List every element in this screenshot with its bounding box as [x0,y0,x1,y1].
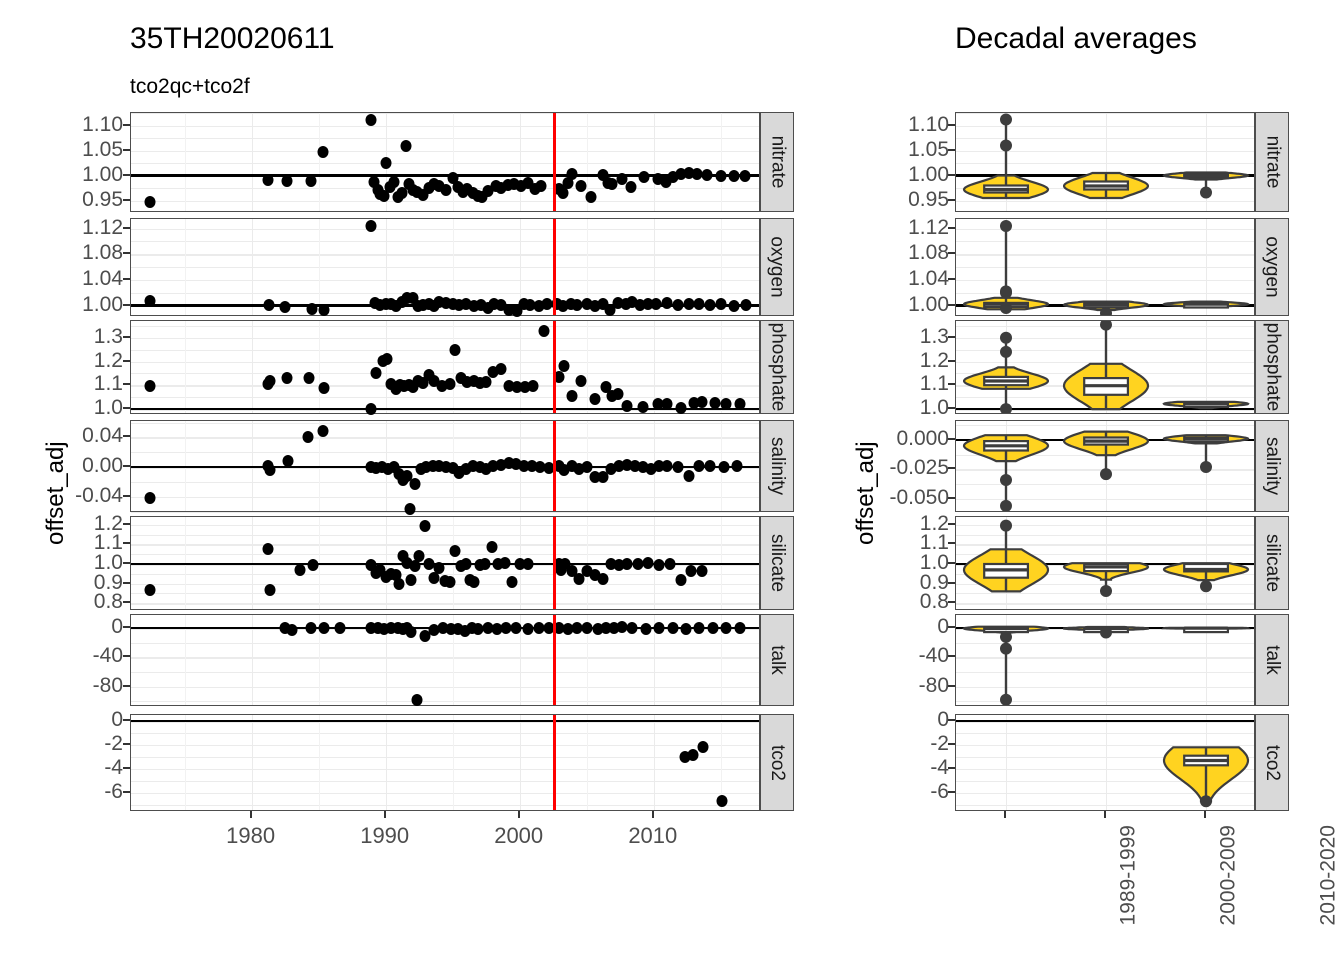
left-plot-title: 35TH20020611 [130,22,335,56]
data-point [654,559,665,571]
data-point [675,574,686,586]
grid-line [131,362,759,364]
data-point [410,478,421,490]
data-point [721,398,732,410]
data-point [281,372,292,384]
grid-line-vertical [319,715,320,810]
facet-strip-label: phosphate [766,323,788,412]
grid-line [131,293,759,294]
y-axis-tick-label: -6 [883,780,949,804]
y-axis-tick-mark [948,542,955,544]
grid-line-vertical [319,219,320,315]
facet-strip-label: oxygen [766,236,788,297]
data-point [705,460,716,472]
grid-line-vertical [185,715,186,810]
grid-line-vertical [185,219,186,315]
data-point [528,380,539,392]
x-axis-tick-mark [1204,811,1206,818]
grid-line-vertical [654,113,655,211]
facet-strip-phosphate: phosphate [760,320,794,414]
outlier-point [1000,500,1012,512]
y-axis-tick-mark [948,523,955,525]
data-point [406,626,417,638]
data-point [697,396,708,408]
facet-panel-salinity [130,420,760,512]
data-point [281,175,292,187]
data-point [265,584,276,596]
baseline-reference-line [131,720,759,723]
outlier-point [1000,643,1012,655]
data-point [406,574,417,586]
data-point [522,558,533,570]
data-point [280,301,291,313]
grid-line-vertical [319,321,320,413]
y-axis-tick-label: 0 [68,708,123,732]
y-axis-tick-mark [123,601,130,603]
data-point [317,425,328,437]
data-point [144,584,155,596]
outlier-point [1000,140,1012,152]
y-axis-tick-label: 0.00 [68,454,123,478]
grid-line [131,163,759,164]
data-point [694,460,705,472]
data-point [305,622,316,634]
outlier-point [1100,627,1112,639]
grid-line-vertical [453,715,454,810]
data-point [305,175,316,187]
data-point [450,545,461,557]
data-point [262,174,273,186]
y-axis-tick-mark [948,497,955,499]
data-point [265,375,276,387]
outlier-point [1200,795,1212,807]
cruise-year-marker [553,615,556,705]
data-point [686,565,697,577]
y-axis-tick-mark [123,465,130,467]
grid-line [131,254,759,256]
data-point [651,298,662,310]
y-axis-tick-mark [123,435,130,437]
y-axis-tick-label: -2 [883,732,949,756]
data-point [718,461,729,473]
y-axis-tick-label: 1.3 [883,325,949,349]
y-axis-tick-label: 1.00 [68,163,123,187]
grid-line-vertical [252,113,253,211]
data-point [388,176,399,188]
facet-panel-phosphate [130,320,760,414]
y-axis-tick-mark [948,719,955,721]
facet-strip-label: talk [766,645,788,675]
facet-panel-oxygen [130,218,760,316]
decadal-facet-panel-silicate [955,516,1255,610]
data-point [581,622,592,634]
data-point [672,461,683,473]
grid-line-vertical [587,321,588,413]
data-point [622,558,633,570]
cruise-year-marker [553,715,556,810]
data-point [654,622,665,634]
x-axis-tick-label: 1990 [360,823,409,849]
y-axis-tick-mark [948,467,955,469]
y-axis-tick-label: 1.04 [68,267,123,291]
grid-line [131,267,759,268]
y-axis-tick-mark [123,767,130,769]
data-point [597,573,608,585]
data-point [445,576,456,588]
data-point [304,372,315,384]
data-point [441,184,452,196]
y-axis-tick-mark [123,174,130,176]
grid-line-vertical [185,113,186,211]
data-point [662,460,673,472]
decadal-facet-strip-oxygen: oxygen [1255,218,1289,316]
y-axis-tick-mark [948,124,955,126]
data-point [423,558,434,570]
x-axis-tick-label: 2000 [494,823,543,849]
data-point [672,299,683,311]
grid-line [131,373,759,374]
decadal-facet-panel-tco2 [955,714,1255,811]
data-point [286,624,297,636]
data-point [739,170,750,182]
grid-line-vertical [185,321,186,413]
grid-line [131,657,759,659]
facet-strip-silicate: silicate [760,516,794,610]
right-y-axis-label: offset_adj [852,441,880,545]
decade-tick-label: 1989-1999 [1116,825,1140,925]
facet-strip-label: nitrate [766,136,788,189]
data-point [461,558,472,570]
y-axis-tick-mark [123,582,130,584]
cruise-year-marker [553,219,556,315]
y-axis-tick-mark [123,278,130,280]
data-point [302,431,313,443]
data-point [265,464,276,476]
data-point [319,382,330,394]
data-point [394,578,405,590]
outlier-point [1000,332,1012,344]
y-axis-tick-label: -40 [883,644,949,668]
data-point [335,622,346,634]
x-axis-tick-mark [518,811,520,818]
grid-line [131,535,759,536]
y-axis-tick-mark [948,252,955,254]
y-axis-tick-label: -80 [883,674,949,698]
y-axis-tick-mark [948,407,955,409]
y-axis-tick-label: 1.04 [883,267,949,291]
y-axis-tick-mark [948,767,955,769]
y-axis-tick-mark [948,383,955,385]
grid-line [131,201,759,203]
data-point [639,171,650,183]
facet-strip-oxygen: oxygen [760,218,794,316]
outlier-point [1000,220,1012,232]
facet-strip-salinity: salinity [760,420,794,512]
grid-line [131,512,759,513]
data-point [683,470,694,482]
y-axis-tick-mark [948,438,955,440]
data-point [622,400,633,412]
outlier-point [1100,585,1112,597]
y-axis-tick-mark [948,582,955,584]
grid-line-vertical [654,715,655,810]
data-point [434,562,445,574]
outlier-point [1000,474,1012,486]
data-point [616,621,627,633]
data-point [559,360,570,372]
facet-panel-silicate [130,516,760,610]
y-axis-tick-label: 1.08 [68,241,123,265]
y-axis-tick-mark [948,626,955,628]
facet-panel-tco2 [130,714,760,811]
x-axis-tick-label: 1980 [226,823,275,849]
facet-strip-label: talk [1261,645,1283,675]
facet-strip-label: nitrate [1261,136,1283,189]
data-point [400,140,411,152]
data-point [510,622,521,634]
y-axis-tick-mark [123,542,130,544]
y-axis-tick-label: -4 [883,756,949,780]
outlier-point [1200,461,1212,473]
x-axis-tick-label: 2010 [628,823,677,849]
facet-panel-nitrate [130,112,760,212]
grid-line-vertical [453,113,454,211]
data-point [144,492,155,504]
facet-strip-label: tco2 [766,745,788,781]
grid-line [131,769,759,771]
data-point [710,397,721,409]
y-axis-tick-mark [123,495,130,497]
y-axis-tick-label: 1.00 [68,293,123,317]
outlier-point [1200,580,1212,592]
y-axis-tick-mark [948,360,955,362]
grid-line [131,126,759,128]
data-point [705,299,716,311]
data-point [319,304,330,316]
grid-line [131,687,759,689]
grid-line [131,805,759,806]
left-plot-subtitle: tco2qc+tco2f [130,75,250,99]
y-axis-tick-mark [948,199,955,201]
y-axis-tick-label: 0.8 [883,590,949,614]
data-point [715,298,726,310]
y-axis-tick-mark [123,252,130,254]
cruise-year-marker [553,421,556,511]
x-axis-tick-mark [1104,811,1106,818]
data-point [643,557,654,569]
y-axis-tick-mark [123,383,130,385]
facet-strip-tco2: tco2 [760,714,794,811]
data-point [365,220,376,232]
grid-line-vertical [453,321,454,413]
y-axis-tick-label: 1.2 [883,349,949,373]
y-axis-tick-label: -6 [68,780,123,804]
facet-strip-label: silicate [766,534,788,592]
decadal-facet-panel-nitrate [955,112,1255,212]
y-axis-tick-label: 1.0 [883,396,949,420]
data-point [729,300,740,312]
data-point [707,622,718,634]
y-axis-tick-mark [123,791,130,793]
y-axis-tick-label: -0.050 [883,486,949,510]
data-point [486,541,497,553]
data-point [694,298,705,310]
x-axis-tick-mark [1004,811,1006,818]
grid-line [131,745,759,747]
grid-line-vertical [721,113,722,211]
grid-line-vertical [386,321,387,413]
y-axis-tick-mark [123,626,130,628]
data-point [626,181,637,193]
grid-line [131,338,759,340]
y-axis-tick-mark [948,685,955,687]
grid-line [131,757,759,758]
y-axis-tick-label: -2 [68,732,123,756]
data-point [264,299,275,311]
data-point [538,325,549,337]
data-point [697,565,708,577]
data-point [612,388,623,400]
grid-line [131,781,759,782]
y-axis-tick-label: 0.000 [883,427,949,451]
grid-line [131,733,759,734]
data-point [365,403,376,415]
data-point [481,376,492,388]
data-point [294,564,305,576]
facet-panel-talk [130,614,760,706]
decadal-facet-panel-oxygen [955,218,1255,316]
grid-line-vertical [520,321,521,413]
grid-line [131,326,759,327]
y-axis-tick-label: -0.025 [883,456,949,480]
y-axis-tick-label: 1.05 [883,138,949,162]
right-plot-title: Decadal averages [955,22,1197,56]
grid-line [131,643,759,644]
data-point [715,170,726,182]
grid-line [131,241,759,242]
data-point [664,558,675,570]
data-point [640,623,651,635]
left-y-axis-label: offset_adj [42,441,70,545]
data-point [731,460,742,472]
grid-line [131,350,759,351]
cruise-year-marker [553,517,556,609]
y-axis-tick-label: 1.10 [883,113,949,137]
y-axis-tick-mark [123,149,130,151]
y-axis-tick-mark [123,227,130,229]
y-axis-tick-label: -40 [68,644,123,668]
outlier-point [1100,468,1112,480]
data-point [687,749,698,761]
data-point [589,393,600,405]
outlier-point [1000,287,1012,299]
grid-line [131,544,759,546]
data-point [717,795,728,807]
y-axis-tick-label: 1.3 [68,325,123,349]
grid-line-vertical [587,715,588,810]
y-axis-tick-mark [948,743,955,745]
grid-line-vertical [520,715,521,810]
data-point [536,180,547,192]
data-point [680,623,691,635]
grid-line [131,482,759,483]
y-axis-tick-label: 0.8 [68,590,123,614]
outlier-point [1000,346,1012,358]
grid-line [131,113,759,114]
data-point [382,353,393,365]
outlier-point [1000,520,1012,532]
x-axis-tick-mark [652,811,654,818]
data-point [638,401,649,413]
decadal-facet-strip-tco2: tco2 [1255,714,1289,811]
facet-strip-label: phosphate [1261,323,1283,412]
grid-line-vertical [252,321,253,413]
outlier-point [1000,114,1012,126]
data-point [698,741,709,753]
grid-line [131,437,759,439]
y-axis-tick-label: 1.10 [68,113,123,137]
y-axis-tick-mark [948,562,955,564]
cruise-year-marker [553,321,556,413]
facet-strip-nitrate: nitrate [760,112,794,212]
x-axis-tick-mark [384,811,386,818]
y-axis-tick-label: 1.05 [68,138,123,162]
y-axis-tick-label: 1.0 [68,396,123,420]
y-axis-tick-label: 0 [68,615,123,639]
cruise-year-marker [553,113,556,211]
grid-line [131,593,759,594]
y-axis-tick-label: 1.12 [883,216,949,240]
y-axis-tick-mark [948,174,955,176]
facet-strip-talk: talk [760,614,794,706]
data-point [667,622,678,634]
data-point [479,558,490,570]
y-axis-tick-mark [123,685,130,687]
outlier-point [1200,187,1212,199]
y-axis-tick-label: 1.00 [883,163,949,187]
data-point [702,169,713,181]
grid-line [131,138,759,139]
data-point [450,344,461,356]
facet-strip-label: oxygen [1261,236,1283,297]
y-axis-tick-label: 0.04 [68,424,123,448]
data-point [404,503,415,515]
grid-line-vertical [252,219,253,315]
decadal-facet-panel-talk [955,614,1255,706]
facet-strip-label: tco2 [1261,745,1283,781]
data-point [469,576,480,588]
y-axis-tick-mark [123,304,130,306]
decadal-facet-panel-phosphate [955,320,1255,414]
data-point [380,157,391,169]
data-point [319,622,330,634]
data-point [627,622,638,634]
data-point [522,623,533,635]
grid-line [131,603,759,605]
data-point [496,363,507,375]
y-axis-tick-mark [948,304,955,306]
data-point [419,520,430,532]
data-point [585,191,596,203]
data-point [144,196,155,208]
data-point [541,298,552,310]
grid-line-vertical [520,113,521,211]
y-axis-tick-label: 1.08 [883,241,949,265]
y-axis-tick-mark [123,719,130,721]
outlier-point [1000,302,1012,314]
facet-strip-label: salinity [1261,437,1283,495]
data-point [282,455,293,467]
